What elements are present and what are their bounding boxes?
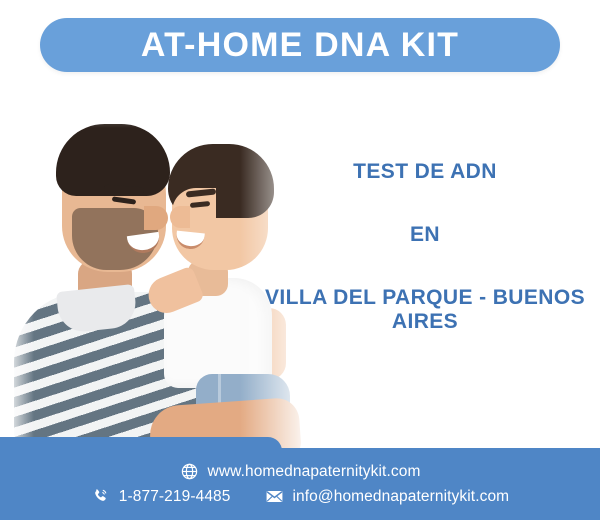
envelope-icon — [265, 487, 284, 506]
footer-row-phone-email: 1-877-219-4485 info@homednapaternitykit.… — [0, 487, 600, 506]
photo-fade-left — [0, 82, 34, 460]
email-item[interactable]: info@homednapaternitykit.com — [265, 487, 510, 506]
phone-icon — [91, 487, 110, 506]
phone-item[interactable]: 1-877-219-4485 — [91, 487, 231, 506]
website-text: www.homednapaternitykit.com — [208, 463, 421, 481]
copy-line-location: VILLA DEL PARQUE - BUENOS AIRES — [250, 286, 600, 336]
father-nose — [144, 206, 168, 230]
copy-line-service: TEST DE ADN — [250, 160, 600, 185]
footer-contact-rows: www.homednapaternitykit.com 1-877-219-44… — [0, 448, 600, 520]
promo-copy: TEST DE ADN EN VILLA DEL PARQUE - BUENOS… — [250, 160, 600, 335]
email-text: info@homednapaternitykit.com — [293, 488, 510, 506]
header-pill: AT-HOME DNA KIT — [40, 18, 560, 72]
phone-text: 1-877-219-4485 — [119, 488, 231, 506]
child-nose — [170, 206, 190, 228]
footer-row-website: www.homednapaternitykit.com — [0, 462, 600, 481]
copy-line-preposition: EN — [250, 223, 600, 248]
copy-spacer-1 — [250, 185, 600, 223]
dna-test-banner: AT-HOME DNA KIT — [0, 0, 600, 520]
website-item[interactable]: www.homednapaternitykit.com — [180, 462, 421, 481]
globe-icon — [180, 462, 199, 481]
page-title: AT-HOME DNA KIT — [141, 28, 459, 62]
copy-spacer-2 — [250, 248, 600, 286]
